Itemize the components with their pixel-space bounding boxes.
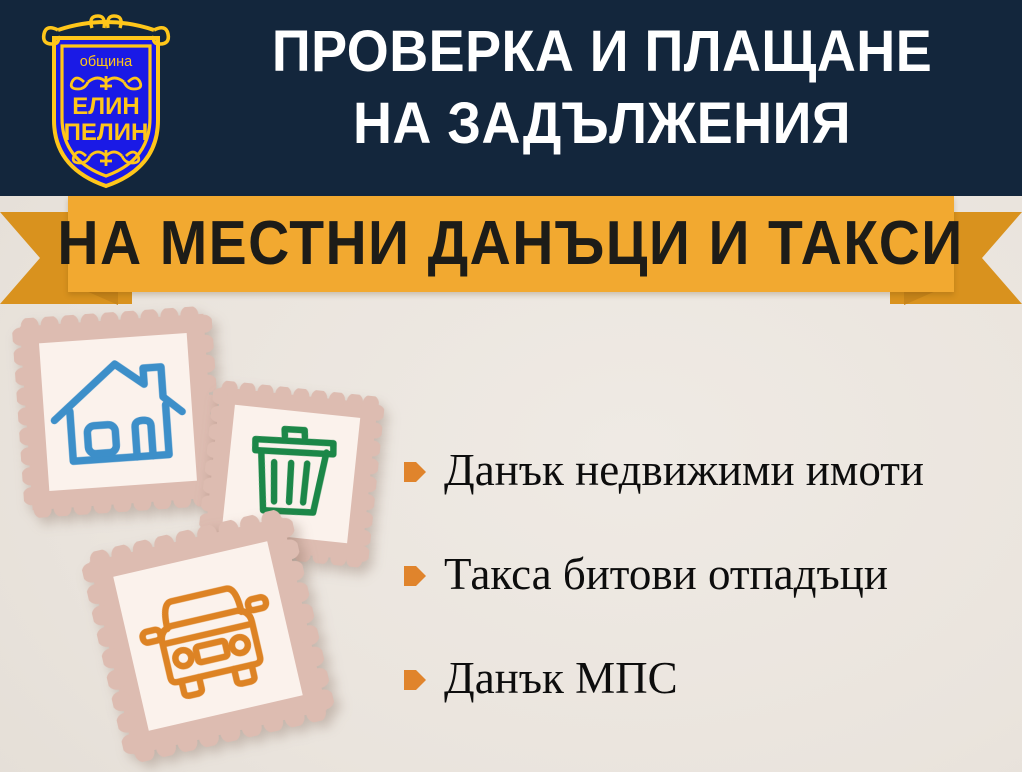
ribbon-subtitle: НА МЕСТНИ ДАНЪЦИ И ТАКСИ [58,213,964,275]
list-item: Такса битови отпадъци [404,522,1016,626]
list-item: Данък МПС [404,626,1016,730]
list-item: Данък недвижими имоти [404,418,1016,522]
page-title-line-1: ПРОВЕРКА И ПЛАЩАНЕ [219,16,985,88]
logo-text-elin: ЕЛИН [72,93,139,120]
logo-text-pelin: ПЕЛИН [64,119,149,146]
ribbon-banner: НА МЕСТНИ ДАНЪЦИ И ТАКСИ [0,187,1022,311]
list-item-label: Такса битови отпадъци [444,548,888,600]
list-item-label: Данък МПС [444,652,678,704]
list-item-label: Данък недвижими имоти [444,444,924,496]
bullet-arrow-icon [404,563,426,589]
header-title-block: ПРОВЕРКА И ПЛАЩАНЕ НА ЗАДЪЛЖЕНИЯ [190,16,1014,160]
header-bar: община ЕЛИН ПЕЛИН [0,0,1022,196]
poster-canvas: община ЕЛИН ПЕЛИН [0,0,1022,772]
bullet-arrow-icon [404,459,426,485]
logo-text-obshtina: община [80,54,133,70]
stamp-card-house [11,305,224,518]
tax-type-list: Данък недвижими имоти Такса битови отпад… [404,418,1016,730]
page-title-line-2: НА ЗАДЪЛЖЕНИЯ [219,88,985,160]
municipality-logo: община ЕЛИН ПЕЛИН [32,8,180,194]
ribbon-band: НА МЕСТНИ ДАНЪЦИ И ТАКСИ [68,196,954,292]
bullet-arrow-icon [404,667,426,693]
